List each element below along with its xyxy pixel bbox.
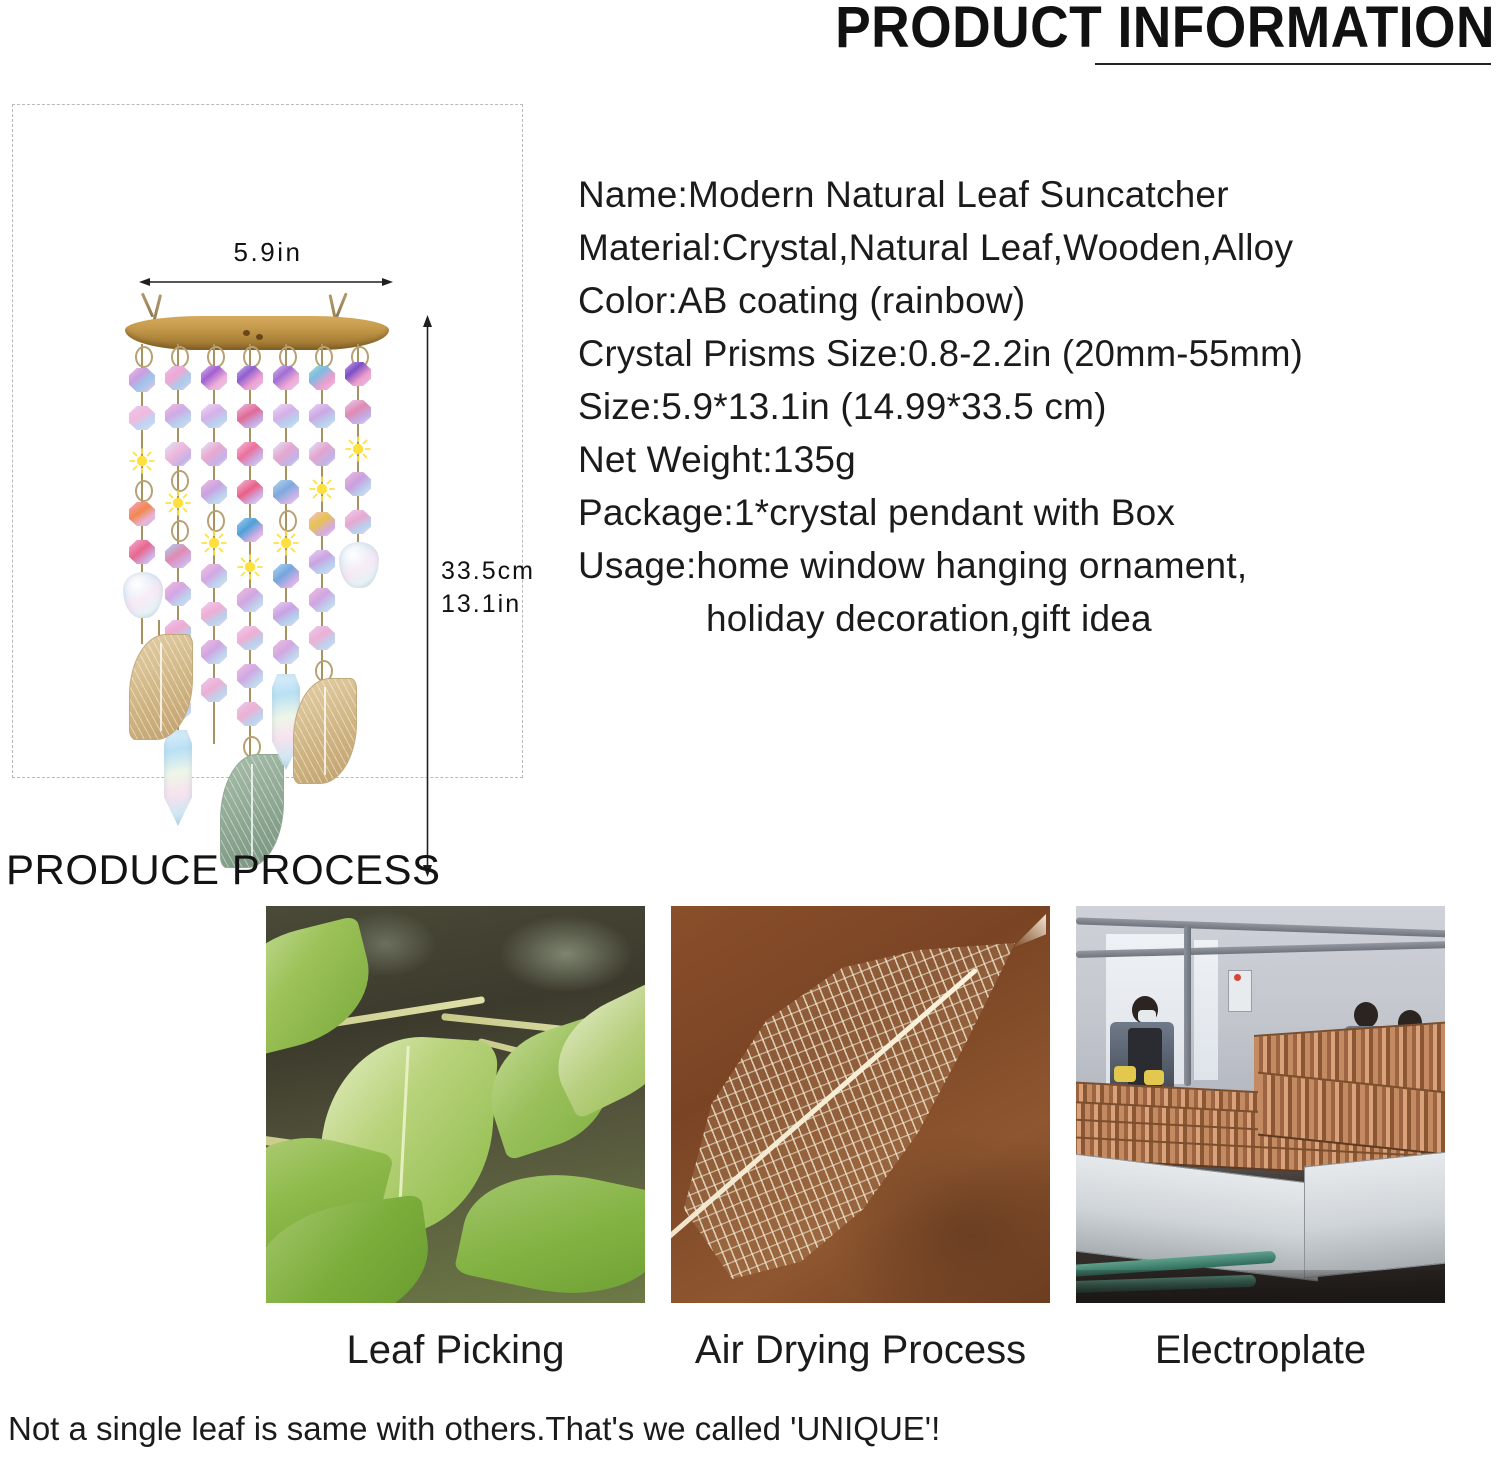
leaf-midrib <box>324 687 326 774</box>
crystal-bead <box>273 366 299 390</box>
sun-charm-icon <box>273 530 299 556</box>
crystal-bead <box>273 404 299 428</box>
crystal-bead <box>201 480 227 504</box>
crystal-bead <box>309 588 335 612</box>
sun-charm-icon <box>309 476 335 502</box>
chain-link <box>279 346 297 368</box>
crystal-bead <box>309 626 335 650</box>
wood-knot-a <box>243 330 250 336</box>
crystal-bead <box>237 518 263 542</box>
crystal-bead <box>309 442 335 466</box>
crystal-bead <box>309 404 335 428</box>
process-caption-electroplate: Electroplate <box>1076 1325 1445 1381</box>
crystal-bead <box>165 544 191 568</box>
crystal-bead <box>201 564 227 588</box>
electroplating-tank <box>1304 1149 1445 1278</box>
crystal-bead <box>273 640 299 664</box>
crystal-bead <box>273 480 299 504</box>
chain-link <box>135 480 153 502</box>
factory-floor-shadow <box>1076 1270 1445 1303</box>
height-dimension-arrow-icon <box>422 315 433 877</box>
product-specification-list: Name:Modern Natural Leaf Suncatcher Mate… <box>578 168 1488 645</box>
leaf-midrib <box>160 643 162 730</box>
crystal-bead <box>345 510 371 534</box>
icicle-prism <box>164 730 192 826</box>
chain-link <box>171 470 189 492</box>
crystal-bead <box>201 366 227 390</box>
chain-link <box>171 520 189 542</box>
crystal-bead <box>201 602 227 626</box>
page-title: PRODUCT INFORMATION <box>796 0 1495 58</box>
crystal-ball-prism <box>339 542 379 588</box>
height-dimension-label-cm: 33.5cm <box>441 555 535 588</box>
spec-line-usage-continued: holiday decoration,gift idea <box>578 592 1488 645</box>
produce-process-caption-row: Leaf Picking Air Drying Process Electrop… <box>266 1325 1456 1381</box>
process-caption-leaf-picking: Leaf Picking <box>266 1325 645 1381</box>
factory-worker-glove <box>1144 1070 1164 1085</box>
title-underline-divider <box>1095 63 1491 65</box>
spec-line-usage: Usage:home window hanging ornament, <box>578 539 1488 592</box>
crystal-bead <box>165 404 191 428</box>
crystal-bead <box>237 664 263 688</box>
sun-charm-icon <box>201 530 227 556</box>
gold-skeleton-leaf-charm <box>293 678 357 784</box>
crystal-bead <box>237 626 263 650</box>
process-photo-electroplate <box>1076 906 1445 1303</box>
crystal-bead <box>201 678 227 702</box>
crystal-bead <box>273 602 299 626</box>
crystal-bead <box>273 442 299 466</box>
factory-worker-glove <box>1114 1066 1136 1082</box>
product-dimension-panel: 5.9in 33.5cm 13.1in <box>12 104 523 778</box>
crystal-bead <box>237 404 263 428</box>
process-photo-leaf-picking <box>266 906 645 1303</box>
crystal-bead <box>345 400 371 424</box>
crystal-ball-prism <box>123 572 163 618</box>
crystal-bead <box>309 366 335 390</box>
factory-worker-mask <box>1138 1010 1156 1022</box>
crystal-bead <box>201 404 227 428</box>
factory-vertical-pipe <box>1184 926 1191 1086</box>
crystal-bead <box>201 640 227 664</box>
chain-link <box>315 346 333 368</box>
factory-worker-head <box>1354 1002 1378 1028</box>
chain-link <box>243 346 261 368</box>
spec-line-package: Package:1*crystal pendant with Box <box>578 486 1488 539</box>
chain-link <box>135 346 153 368</box>
leaf-midrib <box>251 764 253 858</box>
process-caption-air-drying: Air Drying Process <box>671 1325 1050 1381</box>
crystal-bead <box>129 502 155 526</box>
produce-process-photo-row <box>266 906 1456 1303</box>
crystal-bead <box>201 442 227 466</box>
crystal-bead <box>237 480 263 504</box>
crystal-bead <box>129 368 155 392</box>
width-dimension-arrow-icon <box>139 277 393 287</box>
crystal-bead <box>237 702 263 726</box>
chain-link <box>207 510 225 532</box>
crystal-bead <box>165 366 191 390</box>
chain-link <box>207 346 225 368</box>
wooden-branch-bar <box>125 316 389 350</box>
suncatcher-product-illustration <box>108 290 413 880</box>
crystal-bead <box>345 472 371 496</box>
crystal-bead <box>165 442 191 466</box>
wood-knot-b <box>256 334 263 340</box>
hanging-cord-left-b <box>141 293 154 318</box>
chain-link <box>279 510 297 532</box>
height-dimension-label: 33.5cm 13.1in <box>441 555 535 621</box>
spec-line-name: Name:Modern Natural Leaf Suncatcher <box>578 168 1488 221</box>
produce-process-heading: PRODUCE PROCESS <box>6 846 441 894</box>
process-photo-air-drying <box>671 906 1050 1303</box>
spec-line-material: Material:Crystal,Natural Leaf,Wooden,All… <box>578 221 1488 274</box>
crystal-bead <box>129 406 155 430</box>
crystal-bead <box>345 362 371 386</box>
crystal-bead <box>129 540 155 564</box>
factory-control-light <box>1234 974 1241 981</box>
spec-line-color: Color:AB coating (rainbow) <box>578 274 1488 327</box>
spec-line-crystal-prisms-size: Crystal Prisms Size:0.8-2.2in (20mm-55mm… <box>578 327 1474 380</box>
crystal-bead <box>237 588 263 612</box>
crystal-bead <box>309 550 335 574</box>
sun-charm-icon <box>237 554 263 580</box>
sun-charm-icon <box>129 448 155 474</box>
crystal-bead <box>309 512 335 536</box>
crystal-bead <box>237 366 263 390</box>
spec-line-size: Size:5.9*13.1in (14.99*33.5 cm) <box>578 380 1488 433</box>
chain-wire <box>158 620 160 636</box>
spec-line-net-weight: Net Weight:135g <box>578 433 1488 486</box>
width-dimension-label: 5.9in <box>133 237 403 268</box>
crystal-bead <box>165 582 191 606</box>
hanging-cord-right-b <box>335 292 348 317</box>
crystal-bead <box>237 442 263 466</box>
sun-charm-icon <box>345 436 371 462</box>
chain-link <box>171 346 189 368</box>
height-dimension-label-in: 13.1in <box>441 588 535 621</box>
crystal-bead <box>273 564 299 588</box>
gold-skeleton-leaf-charm-left <box>129 634 193 740</box>
unique-leaf-footer-note: Not a single leaf is same with others.Th… <box>8 1408 940 1450</box>
factory-window <box>1194 940 1218 1080</box>
sun-charm-icon <box>165 490 191 516</box>
